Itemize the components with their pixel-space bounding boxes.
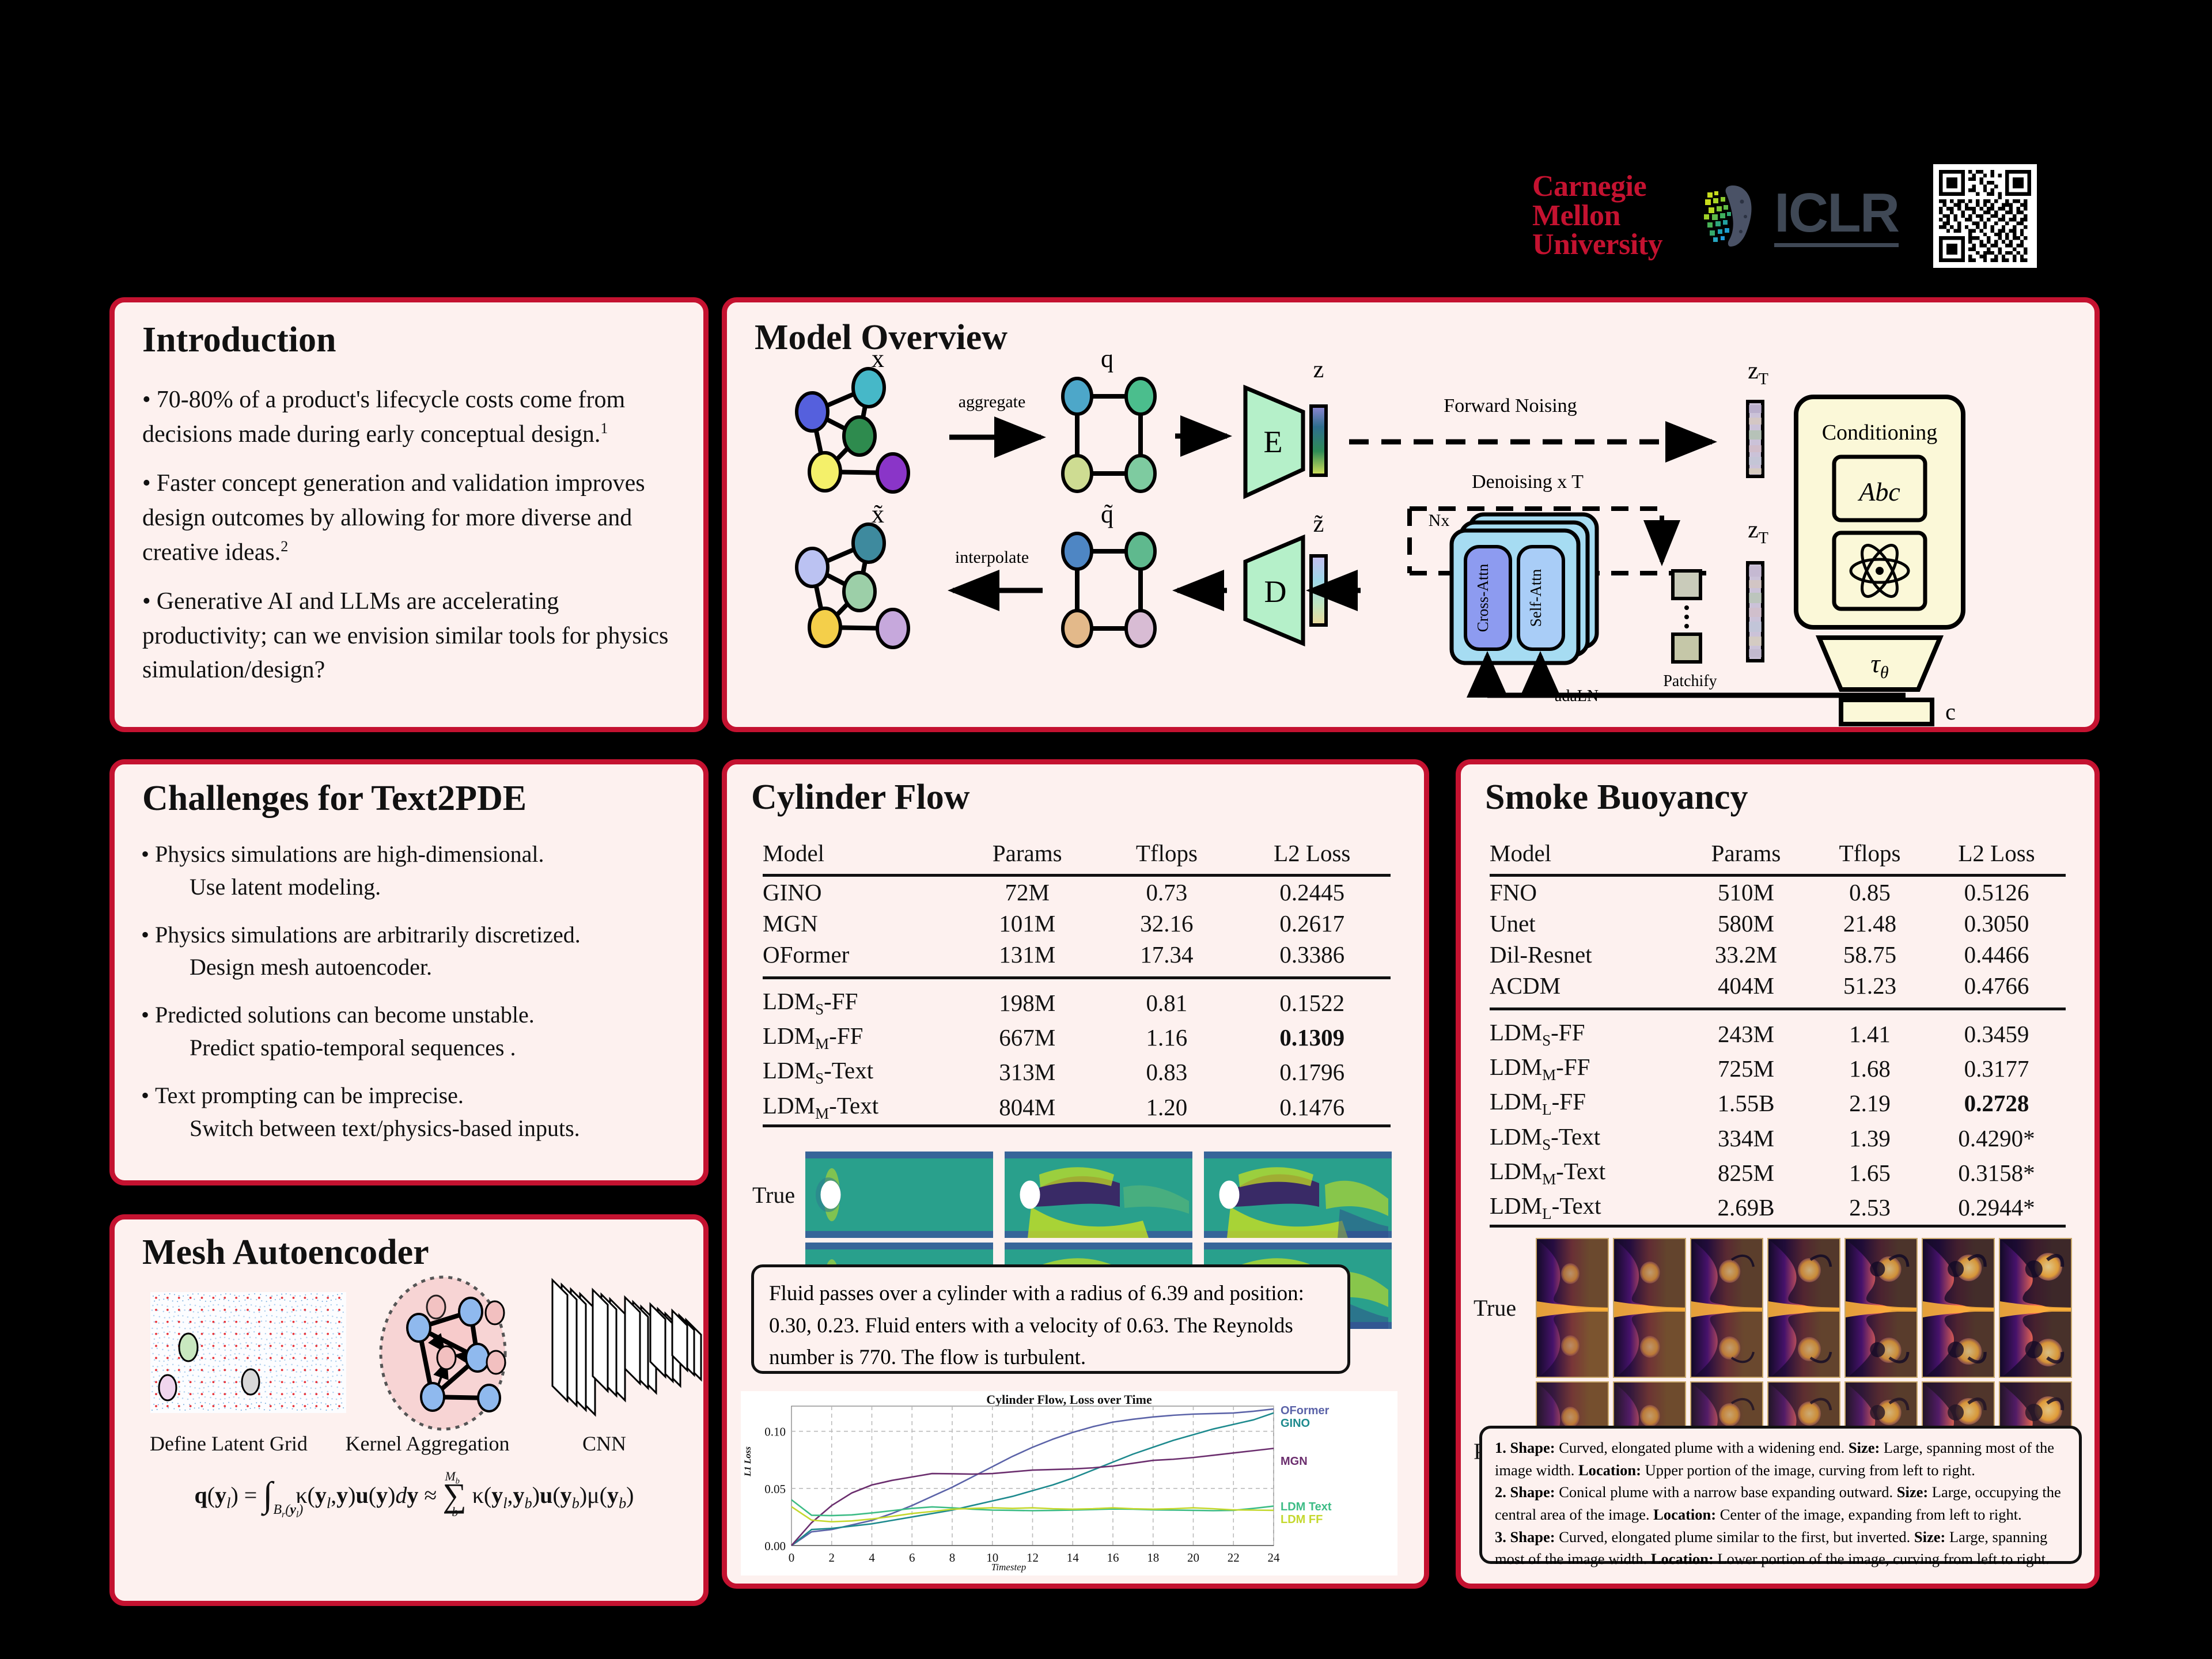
challenges-list: •Physics simulations are high-dimensiona… [141,838,694,1160]
svg-text:10: 10 [986,1551,998,1565]
cell-l2: 0.3158* [1927,1156,2066,1190]
legend-mgn: MGN [1281,1455,1308,1468]
list-item: •70-80% of a product's lifecycle costs c… [142,383,684,452]
svg-text:Conditioning: Conditioning [1822,421,1938,445]
svg-text:18: 18 [1147,1551,1159,1565]
col-params: Params [1680,838,1812,876]
table-row: LDMM-Text825M1.650.3158* [1490,1156,2066,1190]
cell-model: LDML-Text [1490,1190,1680,1226]
smoke-true-frame-7 [1999,1238,2072,1378]
caption-num-3: 3. [1495,1528,1506,1546]
cell-l2: 0.3386 [1233,939,1391,978]
caption-shape-2: Conical plume with a narrow base expandi… [1559,1483,1893,1501]
cell-l2: 0.5126 [1927,876,2066,908]
col-l2: L2 Loss [1927,838,2066,876]
cylinder-true-frame-3 [1204,1152,1392,1238]
cell-tflops: 1.39 [1812,1121,1927,1156]
svg-text:c: c [1945,699,1956,725]
caption-loc-1: Upper portion of the image, curving from… [1645,1461,1975,1479]
col-tflops: Tflops [1100,838,1233,876]
panel-introduction: Introduction •70-80% of a product's life… [109,297,709,732]
bullet-dot: • [141,841,149,867]
cell-params: 2.69B [1680,1190,1812,1226]
cell-tflops: 0.83 [1100,1055,1233,1089]
cell-l2: 0.3459 [1927,1009,2066,1052]
footnote-ref-1: 1 [600,420,608,437]
panel-smoke-buoyancy: Smoke Buoyancy Model Params Tflops L2 Lo… [1456,759,2100,1589]
cell-l2: 0.4466 [1927,939,2066,970]
cmu-line-3: University [1532,230,1662,259]
cylinder-flow-table: Model Params Tflops L2 Loss GINO72M0.730… [763,838,1391,1127]
svg-text:aggregate: aggregate [959,392,1026,411]
qr-code[interactable] [1933,164,2037,268]
svg-text:D: D [1264,574,1287,609]
caption-item-1: 1. Shape: Curved, elongated plume with a… [1495,1437,2066,1481]
cell-tflops: 21.48 [1812,908,1927,939]
cell-model: Unet [1490,908,1680,939]
cell-l2: 0.1476 [1233,1090,1391,1126]
cmu-logo: Carnegie Mellon University [1532,172,1662,259]
challenges-title: Challenges for Text2PDE [142,781,527,816]
introduction-bullets: •70-80% of a product's lifecycle costs c… [142,383,684,703]
cell-tflops: 58.75 [1812,939,1927,970]
caption-shape-3: Curved, elongated plume similar to the f… [1559,1528,1910,1546]
panel-cylinder-flow: Cylinder Flow Model Params Tflops L2 Los… [722,759,1429,1589]
table-row: LDML-FF1.55B2.190.2728 [1490,1086,2066,1120]
iclr-logo: ICLR [1697,182,1899,250]
cell-params: 667M [955,1020,1100,1055]
legend-gino: GINO [1281,1417,1310,1430]
caption-item-3: 3. Shape: Curved, elongated plume simila… [1495,1526,2066,1570]
cell-tflops: 1.68 [1812,1051,1927,1086]
cell-tflops: 1.41 [1812,1009,1927,1052]
cell-l2: 0.2944* [1927,1190,2066,1226]
caption-size-label-2: Size: [1897,1483,1928,1501]
cell-l2: 0.2617 [1233,908,1391,939]
svg-text:6: 6 [909,1551,915,1565]
bullet-dot: • [142,470,151,497]
challenge-problem-1: Physics simulations are arbitrarily disc… [155,922,581,948]
svg-text:Self-Attn: Self-Attn [1527,569,1544,627]
cell-tflops: 0.81 [1100,978,1233,1021]
caption-item-2: 2. Shape: Conical plume with a narrow ba… [1495,1481,2066,1525]
cell-params: 404M [1680,970,1812,1009]
challenge-problem-3: Text prompting can be imprecise. [155,1082,464,1108]
caption-shape-label-1: Shape: [1510,1439,1555,1456]
svg-text:22: 22 [1228,1551,1240,1565]
cell-l2: 0.2728 [1927,1086,2066,1120]
smoke-true-frame-3 [1690,1238,1763,1378]
caption-num-2: 2. [1495,1483,1506,1501]
legend-ldm-ff: LDM FF [1281,1513,1323,1526]
smoke-buoyancy-caption: 1. Shape: Curved, elongated plume with a… [1479,1426,2082,1564]
cell-tflops: 1.16 [1100,1020,1233,1055]
svg-text:24: 24 [1268,1551,1281,1565]
caption-loc-2: Center of the image, expanding from left… [1720,1506,2022,1523]
chart-plot-area: 0.000.050.10024681012141618202224OFormer… [741,1391,1397,1575]
list-item: •Text prompting can be imprecise.Switch … [141,1080,694,1145]
cell-model: LDMS-Text [763,1055,955,1089]
table-row: OFormer131M17.340.3386 [763,939,1391,978]
table-row: LDMM-FF667M1.160.1309 [763,1020,1391,1055]
table-row: MGN101M32.160.2617 [763,908,1391,939]
caption-size-label-3: Size: [1914,1528,1945,1546]
cell-l2: 0.3177 [1927,1051,2066,1086]
svg-text:16: 16 [1107,1551,1119,1565]
cmu-line-2: Mellon [1532,202,1662,230]
svg-text:Denoising x T: Denoising x T [1472,471,1584,493]
table-row: LDML-Text2.69B2.530.2944* [1490,1190,2066,1226]
cell-model: LDMM-FF [1490,1051,1680,1086]
cell-model: LDMS-Text [1490,1121,1680,1156]
cylinder-flow-caption: Fluid passes over a cylinder with a radi… [751,1264,1350,1374]
svg-text:Cross-Attn: Cross-Attn [1474,563,1491,632]
bullet-dot: • [141,922,149,948]
svg-text:Patchify: Patchify [1663,672,1717,690]
table-row: LDMM-Text804M1.200.1476 [763,1090,1391,1126]
cell-l2: 0.4290* [1927,1121,2066,1156]
cell-tflops: 17.34 [1100,939,1233,978]
bullet-dot: • [142,387,151,413]
cell-model: MGN [763,908,955,939]
smoke-buoyancy-title: Smoke Buoyancy [1485,779,1748,815]
svg-text:E: E [1264,425,1283,459]
challenge-problem-0: Physics simulations are high-dimensional… [155,841,544,867]
svg-text:q: q [1101,344,1113,373]
cell-params: 131M [955,939,1100,978]
svg-text:8: 8 [949,1551,956,1565]
cell-tflops: 1.20 [1100,1090,1233,1126]
model-overview-diagram: x aggregate q [727,302,2105,737]
cell-model: LDML-FF [1490,1086,1680,1120]
table-row: Unet580M21.480.3050 [1490,908,2066,939]
caption-num-1: 1. [1495,1439,1506,1456]
cell-tflops: 2.53 [1812,1190,1927,1226]
cell-model: LDMM-FF [763,1020,955,1055]
cell-tflops: 32.16 [1100,908,1233,939]
caption-shape-1: Curved, elongated plume with a widening … [1559,1439,1844,1456]
svg-text:20: 20 [1187,1551,1199,1565]
cell-params: 580M [1680,908,1812,939]
svg-text:z: z [1313,357,1324,383]
cell-params: 725M [1680,1051,1812,1086]
svg-text:14: 14 [1067,1551,1080,1565]
cell-l2: 0.1796 [1233,1055,1391,1089]
cell-params: 334M [1680,1121,1812,1156]
table-row: LDMS-FF198M0.810.1522 [763,978,1391,1021]
cell-params: 243M [1680,1009,1812,1052]
table-header-row: Model Params Tflops L2 Loss [1490,838,2066,876]
cell-params: 101M [955,908,1100,939]
svg-text:q̃: q̃ [1101,500,1113,528]
cell-model: GINO [763,876,955,908]
cell-model: LDMM-Text [763,1090,955,1126]
introduction-bullet-0: 70-80% of a product's lifecycle costs co… [142,387,625,448]
cylinder-flow-title: Cylinder Flow [751,779,969,815]
cell-model: OFormer [763,939,955,978]
col-l2: L2 Loss [1233,838,1391,876]
svg-text:0.10: 0.10 [764,1425,786,1439]
caption-size-label-1: Size: [1849,1439,1880,1456]
cell-tflops: 1.65 [1812,1156,1927,1190]
footnote-ref-2: 2 [281,538,288,555]
table-row: LDMS-FF243M1.410.3459 [1490,1009,2066,1052]
legend-oformer: OFormer [1281,1404,1330,1417]
cell-tflops: 2.19 [1812,1086,1927,1120]
caption-loc-label-1: Location: [1578,1461,1641,1479]
smoke-true-frame-6 [1922,1238,1995,1378]
svg-text:0.00: 0.00 [764,1539,786,1553]
challenge-solution-3: Switch between text/physics-based inputs… [190,1112,694,1145]
mesh-caption-0: Define Latent Grid [142,1431,315,1456]
mesh-autoencoder-diagram [115,1219,714,1611]
cmu-line-1: Carnegie [1532,172,1662,201]
bullet-dot: • [142,588,151,615]
list-item: •Physics simulations are high-dimensiona… [141,838,694,904]
table-row: ACDM404M51.230.4766 [1490,970,2066,1009]
legend-ldm-text: LDM Text [1281,1501,1332,1513]
poster-root: Carnegie Mellon University [0,0,2212,1659]
iclr-brain-icon [1697,182,1766,250]
list-item: •Faster concept generation and validatio… [142,467,684,570]
svg-text:Forward Noising: Forward Noising [1444,395,1577,416]
introduction-title: Introduction [142,322,336,358]
cell-params: 198M [955,978,1100,1021]
row-label-true: True [752,1181,805,1209]
svg-text:0: 0 [789,1551,795,1565]
bullet-dot: • [141,1082,149,1108]
challenge-problem-2: Predicted solutions can become unstable. [155,1002,535,1028]
cell-model: FNO [1490,876,1680,908]
cylinder-true-frame-1 [805,1152,993,1238]
challenge-solution-1: Design mesh autoencoder. [190,951,694,984]
smoke-true-frame-1 [1536,1238,1609,1378]
table-row: FNO510M0.850.5126 [1490,876,2066,908]
svg-text:z̃: z̃ [1313,511,1324,537]
col-params: Params [955,838,1100,876]
cell-params: 313M [955,1055,1100,1089]
cell-l2: 0.2445 [1233,876,1391,908]
cell-params: 1.55B [1680,1086,1812,1120]
cell-params: 825M [1680,1156,1812,1190]
table-row: LDMM-FF725M1.680.3177 [1490,1051,2066,1086]
caption-loc-label-3: Location: [1651,1550,1714,1567]
challenge-solution-0: Use latent modeling. [190,871,694,904]
col-model: Model [1490,838,1680,876]
mesh-caption-2: CNN [535,1431,673,1456]
svg-text:0.05: 0.05 [764,1482,786,1496]
col-model: Model [763,838,955,876]
svg-text:4: 4 [869,1551,875,1565]
cell-model: Dil-Resnet [1490,939,1680,970]
svg-text:zT: zT [1748,358,1768,388]
svg-text:2: 2 [829,1551,835,1565]
table-row: LDMS-Text334M1.390.4290* [1490,1121,2066,1156]
caption-loc-label-2: Location: [1653,1506,1716,1523]
bullet-dot: • [141,1002,149,1028]
table-row: LDMS-Text313M0.830.1796 [763,1055,1391,1089]
cell-model: ACDM [1490,970,1680,1009]
svg-text:12: 12 [1027,1551,1039,1565]
panel-model-overview: Model Overview x [722,297,2100,732]
cell-params: 510M [1680,876,1812,908]
panel-mesh-autoencoder: Mesh Autoencoder [109,1214,709,1606]
caption-loc-3: Lower portion of the image, curving from… [1717,1550,2049,1567]
row-label-true: True [1474,1294,1536,1321]
smoke-true-frame-4 [1767,1238,1840,1378]
panel-challenges: Challenges for Text2PDE •Physics simulat… [109,759,709,1185]
cell-model: LDMS-FF [1490,1009,1680,1052]
caption-shape-label-3: Shape: [1510,1528,1555,1546]
cell-tflops: 51.23 [1812,970,1927,1009]
caption-shape-label-2: Shape: [1510,1483,1555,1501]
header-logos: Carnegie Mellon University [1532,167,2143,265]
mesh-autoencoder-equation: q(yl) = ∫Br(yl) κ(yl,y)u(y)dy ≈ Mb ∑ b κ… [138,1482,691,1512]
list-item: •Physics simulations are arbitrarily dis… [141,919,694,984]
cylinder-true-frame-2 [1005,1152,1192,1238]
cell-l2: 0.3050 [1927,908,2066,939]
smoke-buoyancy-table: Model Params Tflops L2 Loss FNO510M0.850… [1490,838,2066,1228]
cell-model: LDMM-Text [1490,1156,1680,1190]
svg-text:zT: zT [1748,517,1768,547]
cell-tflops: 0.73 [1100,876,1233,908]
introduction-bullet-2: Generative AI and LLMs are accelerating … [142,588,668,683]
cell-l2: 0.1522 [1233,978,1391,1021]
col-tflops: Tflops [1812,838,1927,876]
cylinder-loss-chart: Cylinder Flow, Loss over Time L1 Loss Ti… [741,1391,1397,1575]
table-row: Dil-Resnet33.2M58.750.4466 [1490,939,2066,970]
cell-params: 804M [955,1090,1100,1126]
list-item: •Generative AI and LLMs are accelerating… [142,585,684,688]
cell-params: 72M [955,876,1100,908]
challenge-solution-2: Predict spatio-temporal sequences . [190,1032,694,1065]
cell-l2: 0.4766 [1927,970,2066,1009]
mesh-caption-1: Kernel Aggregation [332,1431,522,1456]
table-header-row: Model Params Tflops L2 Loss [763,838,1391,876]
svg-text:Nx: Nx [1429,511,1450,530]
smoke-true-frame-5 [1844,1238,1918,1378]
list-item: •Predicted solutions can become unstable… [141,999,694,1065]
cell-l2: 0.1309 [1233,1020,1391,1055]
svg-text:interpolate: interpolate [955,548,1029,567]
cell-params: 33.2M [1680,939,1812,970]
introduction-bullet-1: Faster concept generation and validation… [142,470,645,565]
table-row: GINO72M0.730.2445 [763,876,1391,908]
cell-model: LDMS-FF [763,978,955,1021]
cell-tflops: 0.85 [1812,876,1927,908]
iclr-wordmark: ICLR [1774,185,1899,247]
smoke-true-frame-2 [1613,1238,1686,1378]
svg-text:Abc: Abc [1857,477,1900,506]
